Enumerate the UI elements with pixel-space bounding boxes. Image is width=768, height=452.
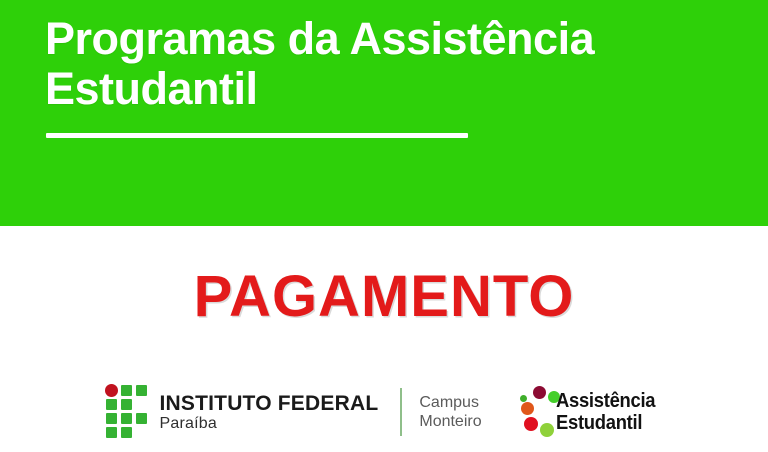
ifpb-state-label: Paraíba [160,415,379,433]
campus-name-label: Monteiro [419,412,481,431]
assistencia-dots-mark-icon [520,386,554,438]
ifpb-logo: INSTITUTO FEDERAL Paraíba [105,384,379,440]
ifpb-name-label: INSTITUTO FEDERAL [160,392,379,415]
assistencia-wordmark: Assistência Estudantil [556,390,664,434]
campus-label: Campus [419,393,481,412]
page-title: Programas da Assistência Estudantil [45,14,705,114]
campus-block: Campus Monteiro [419,393,481,431]
announcement-headline: PAGAMENTO [0,268,768,326]
footer-logo-strip: INSTITUTO FEDERAL Paraíba Campus Monteir… [0,376,768,448]
ifpb-wordmark: INSTITUTO FEDERAL Paraíba [160,392,379,433]
assistencia-label: Assistência [556,390,655,412]
ifpb-grid-mark-icon [105,384,151,440]
header-band: Programas da Assistência Estudantil [0,0,768,226]
assistencia-estudantil-logo: Assistência Estudantil [520,386,664,438]
estudantil-label: Estudantil [556,412,655,434]
poster-root: Programas da Assistência Estudantil PAGA… [0,0,768,452]
logo-divider [400,388,402,436]
title-underline-rule [46,133,468,138]
